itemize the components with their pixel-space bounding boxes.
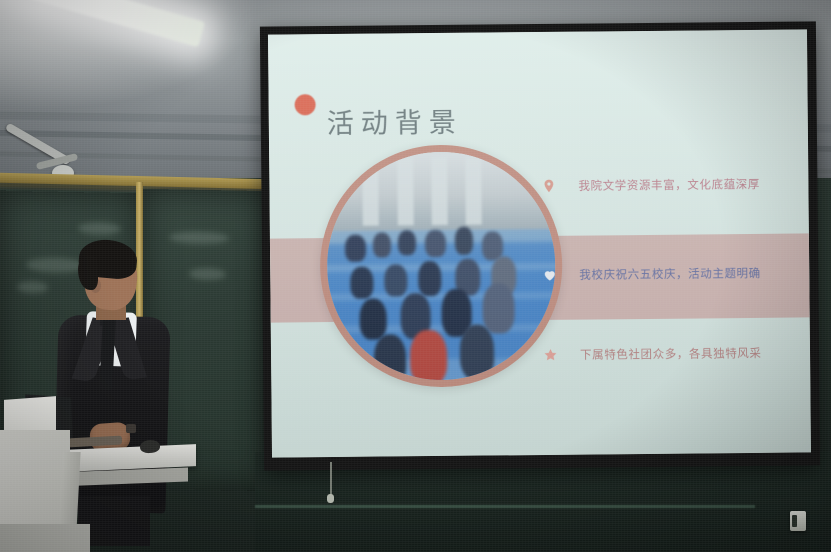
- slide-photo-circle: [319, 144, 563, 388]
- projection-screen: 活动背景: [260, 21, 820, 470]
- screen-pull-cord-knob: [327, 494, 334, 503]
- slide-bullet-text: 我院文学资源丰富，文化底蕴深厚: [578, 176, 760, 194]
- slide-title-bullet-dot: [295, 94, 316, 115]
- presenter-hair-side: [78, 256, 98, 290]
- screen-pull-cord: [330, 462, 332, 498]
- star-icon: [543, 347, 558, 363]
- chalk-eraser: [790, 511, 806, 531]
- slide-bullet-row: 下属特色社团众多，各具独特风采: [543, 344, 803, 362]
- podium-base: [0, 524, 90, 552]
- slide-bullet-row: 我院文学资源丰富，文化底蕴深厚: [541, 175, 801, 193]
- location-pin-icon: [541, 178, 556, 194]
- slide-photo-image: [326, 151, 556, 381]
- slide-bullet-text: 我校庆祝六五校庆，活动主题明确: [579, 265, 761, 283]
- chalk-ledge: [255, 505, 755, 508]
- slide-bullet-text: 下属特色社团众多，各具独特风采: [580, 345, 762, 363]
- heart-icon: [542, 267, 557, 283]
- slide-title: 活动背景: [327, 101, 463, 141]
- slide-bullet-row: 我校庆祝六五校庆，活动主题明确: [542, 264, 802, 282]
- presenter-watch: [126, 424, 136, 433]
- classroom-photo-scene: 活动背景: [0, 0, 831, 552]
- presentation-slide: 活动背景: [268, 29, 811, 457]
- projection-screen-surface: 活动背景: [268, 29, 811, 457]
